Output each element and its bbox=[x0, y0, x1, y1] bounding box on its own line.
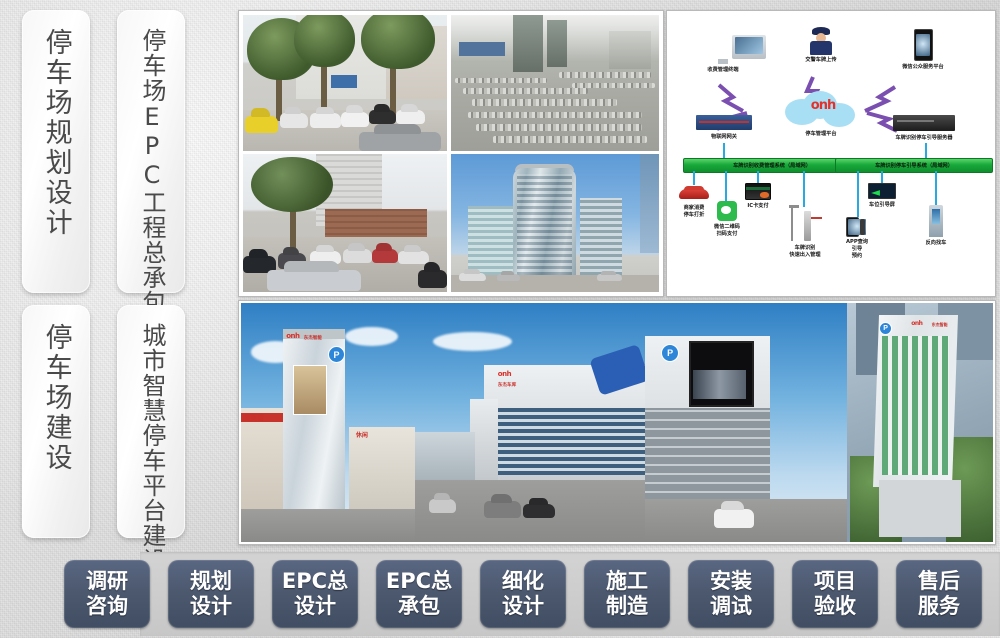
category-label-smart-platform: 城市智慧停车平台建设 bbox=[138, 323, 164, 573]
category-label-planning-design: 停车场规划设计 bbox=[41, 28, 70, 238]
category-card-planning-design[interactable]: 停车场规划设计 bbox=[22, 10, 90, 293]
render-1-brand-cn: 东杰智能 bbox=[304, 335, 322, 341]
process-step-detail-line1: 细化 bbox=[502, 570, 544, 594]
render-podium-garage[interactable]: onh 东杰车库 bbox=[415, 303, 645, 542]
process-step-manufacturing[interactable]: 施工 制造 bbox=[584, 560, 670, 628]
node-wechat-qr-pay: 微信二维码扫码支付 bbox=[701, 201, 753, 238]
node-label-traffic-police: 交警车牌上传 bbox=[779, 57, 863, 64]
photo-surface-lot[interactable] bbox=[243, 15, 447, 151]
parking-site-photo-panel bbox=[238, 10, 664, 297]
drop-gate bbox=[803, 171, 805, 207]
process-step-epc-gc-line1: EPC总 bbox=[386, 570, 452, 594]
smart-parking-architecture-diagram: onh 停车管理平台 收费管理终端 交警车牌上传 微信公众服务平台 bbox=[666, 10, 996, 297]
node-label-wechat-platform: 微信公众服务平台 bbox=[875, 64, 971, 71]
subsystem-label-guidance-lan: 车牌识别停车引导系统（局域网） bbox=[875, 162, 953, 169]
process-step-acceptance-line2: 验收 bbox=[814, 595, 856, 619]
subsystem-bar-guidance-lan-2[interactable]: 车牌识别停车引导系统（局域网） bbox=[835, 158, 993, 173]
node-guide-server: 车牌识别停车引导服务器 bbox=[865, 115, 983, 142]
process-step-aftersales[interactable]: 售后 服务 bbox=[896, 560, 982, 628]
node-space-guide-screen: 车位引导屏 bbox=[857, 183, 907, 209]
render-1-brand-logo: onh bbox=[286, 332, 299, 340]
process-step-survey[interactable]: 调研 咨询 bbox=[64, 560, 150, 628]
node-label-wechat-qr-pay: 微信二维码扫码支付 bbox=[701, 224, 753, 238]
parking-platform-cloud: onh bbox=[783, 91, 859, 131]
category-card-construction[interactable]: 停车场建设 bbox=[22, 305, 90, 538]
process-step-epc-gc-line2: 承包 bbox=[398, 595, 440, 619]
node-label-anpr-gate: 车牌识别快速出入管理 bbox=[777, 245, 833, 259]
drop-iccard bbox=[757, 171, 759, 183]
process-step-planning[interactable]: 规划 设计 bbox=[168, 560, 254, 628]
category-label-epc-contracting: 停车场EPC工程总承包 bbox=[138, 28, 164, 315]
node-traffic-police: 交警车牌上传 bbox=[779, 27, 863, 64]
render-right-shop-sign: 休闲 bbox=[356, 430, 368, 439]
render-4-brand-cn: 东杰智能 bbox=[932, 322, 948, 328]
link-gateway-to-charging bbox=[723, 143, 725, 158]
process-step-survey-line1: 调研 bbox=[86, 570, 128, 594]
render-4-brand-logo: onh bbox=[911, 320, 922, 327]
render-tower-garage[interactable]: 国芙蓉 休闲 onh 东杰智能 P bbox=[241, 303, 415, 542]
category-label-construction: 停车场建设 bbox=[41, 323, 70, 473]
render-left-shop-sign: 国芙蓉 bbox=[243, 413, 264, 423]
node-label-charge-terminal: 收费管理终端 bbox=[681, 67, 765, 74]
process-step-acceptance[interactable]: 项目 验收 bbox=[792, 560, 878, 628]
process-step-epc-design-line2: 设计 bbox=[294, 595, 336, 619]
render-2-brand-cn: 东杰车库 bbox=[498, 382, 516, 388]
node-wechat-platform: 微信公众服务平台 bbox=[875, 29, 971, 71]
process-step-acceptance-line1: 项目 bbox=[814, 570, 856, 594]
drop-kiosk bbox=[935, 171, 937, 205]
process-step-detail-line2: 设计 bbox=[502, 595, 544, 619]
drop-wechat bbox=[725, 171, 727, 201]
photo-aerial-lot[interactable] bbox=[451, 15, 659, 151]
process-step-detail[interactable]: 细化 设计 bbox=[480, 560, 566, 628]
node-charge-terminal: 收费管理终端 bbox=[681, 35, 765, 74]
process-step-epc-design-line1: EPC总 bbox=[282, 570, 348, 594]
node-label-space-guide-screen: 车位引导屏 bbox=[857, 202, 907, 209]
render-1-parking-badge: P bbox=[328, 346, 345, 363]
photo-brick-lot[interactable] bbox=[243, 154, 447, 292]
category-card-smart-platform[interactable]: 城市智慧停车平台建设 bbox=[117, 305, 185, 538]
process-step-epc-gc[interactable]: EPC总 承包 bbox=[376, 560, 462, 628]
process-step-manufacturing-line2: 制造 bbox=[606, 595, 648, 619]
node-anpr-gate: 车牌识别快速出入管理 bbox=[777, 205, 833, 259]
link-server-to-guidance bbox=[925, 143, 927, 158]
node-label-guide-server: 车牌识别停车引导服务器 bbox=[865, 135, 983, 142]
node-iot-gateway: 物联网网关 bbox=[679, 115, 769, 141]
garage-render-panel: 国芙蓉 休闲 onh 东杰智能 P onh 东杰车库 bbox=[238, 300, 996, 545]
process-step-install[interactable]: 安装 调试 bbox=[688, 560, 774, 628]
drop-led-sign bbox=[881, 171, 883, 183]
platform-logo-text: onh bbox=[801, 98, 845, 112]
node-parking-platform: 停车管理平台 bbox=[775, 131, 867, 138]
node-reverse-find-car: 反向找车 bbox=[913, 205, 959, 247]
node-label-app-query: APP查询引导预约 bbox=[833, 239, 881, 260]
render-3-parking-badge: P bbox=[661, 344, 679, 362]
photo-glass-tower[interactable] bbox=[451, 154, 659, 292]
process-step-install-line1: 安装 bbox=[710, 570, 752, 594]
node-label-iot-gateway: 物联网网关 bbox=[679, 134, 769, 141]
node-label-parking-platform: 停车管理平台 bbox=[775, 131, 867, 138]
subsystem-label-charging-lan: 车牌识别收费管理系统（局域网） bbox=[733, 162, 811, 169]
render-aerial-tower[interactable]: onh 东杰智能 P bbox=[847, 303, 993, 542]
process-step-survey-line2: 咨询 bbox=[86, 595, 128, 619]
node-app-query: APP查询引导预约 bbox=[833, 217, 881, 260]
render-2-brand-logo: onh bbox=[498, 370, 511, 378]
process-step-install-line2: 调试 bbox=[710, 595, 752, 619]
process-step-aftersales-line2: 服务 bbox=[918, 595, 960, 619]
render-led-facade[interactable]: P bbox=[645, 303, 847, 542]
process-step-aftersales-line1: 售后 bbox=[918, 570, 960, 594]
process-step-planning-line2: 设计 bbox=[190, 595, 232, 619]
screenshot-root: 停车场规划设计 停车场EPC工程总承包 停车场建设 城市智慧停车平台建设 bbox=[0, 0, 1000, 638]
process-step-planning-line1: 规划 bbox=[190, 570, 232, 594]
category-card-epc-contracting[interactable]: 停车场EPC工程总承包 bbox=[117, 10, 185, 293]
node-label-reverse-find-car: 反向找车 bbox=[913, 240, 959, 247]
process-step-manufacturing-line1: 施工 bbox=[606, 570, 648, 594]
process-step-epc-design[interactable]: EPC总 设计 bbox=[272, 560, 358, 628]
